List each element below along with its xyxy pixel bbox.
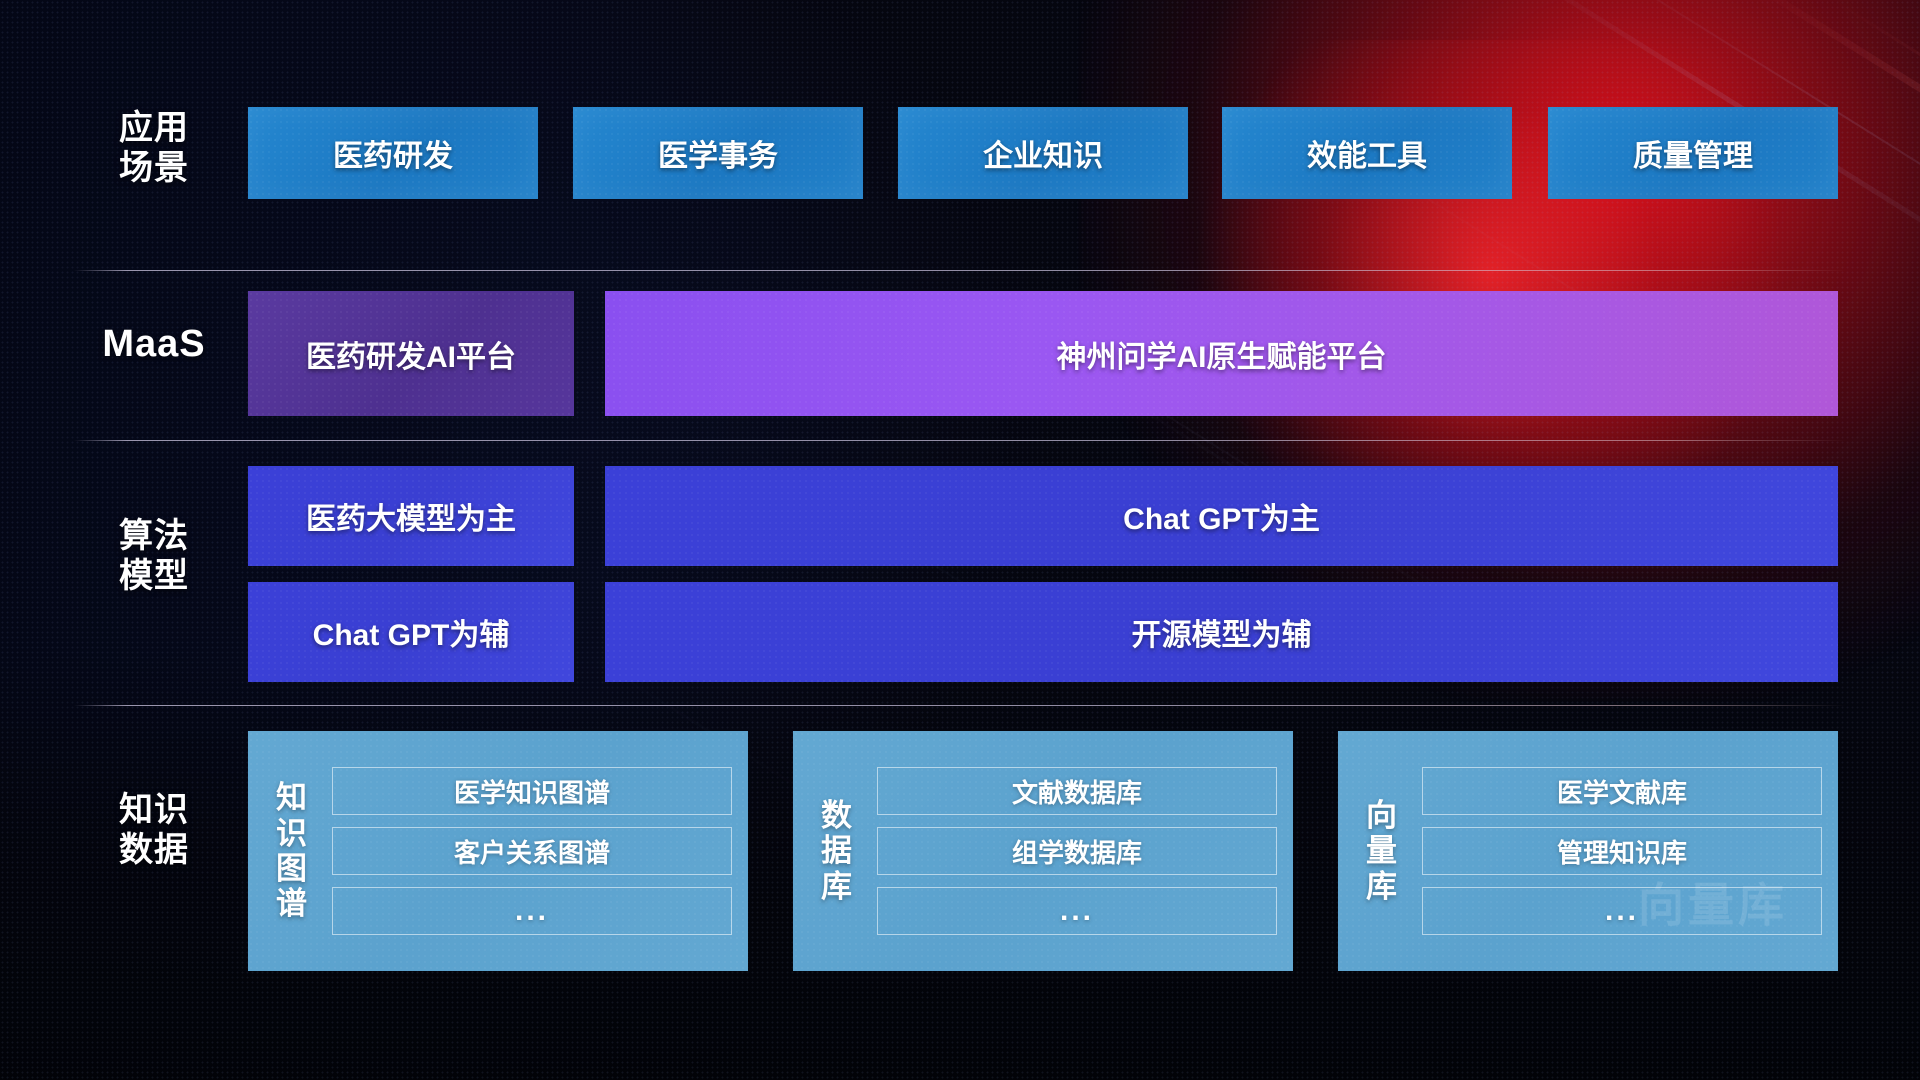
divider-after-algorithm-models xyxy=(74,705,1846,706)
slide-canvas: 应用 场景 医药研发 医学事务 企业知识 效能工具 质量管理 MaaS 医药研发… xyxy=(0,0,1920,1080)
algo-box-chatgpt-secondary[interactable]: Chat GPT为辅 xyxy=(248,582,574,682)
algo-box-chatgpt-primary[interactable]: Chat GPT为主 xyxy=(605,466,1838,566)
knowledge-group-title-knowledge-graph: 知 识 图 谱 xyxy=(262,780,322,921)
scenario-box-efficiency-tools[interactable]: 效能工具 xyxy=(1222,107,1512,199)
knowledge-group-title-char: 向 xyxy=(1352,798,1412,833)
scenario-box-label: 效能工具 xyxy=(1307,131,1427,175)
knowledge-group-knowledge-graph[interactable]: 知 识 图 谱 医学知识图谱 客户关系图谱 ... xyxy=(248,731,748,971)
row-label-application-scenarios: 应用 场景 xyxy=(74,108,234,188)
knowledge-item[interactable]: 客户关系图谱 xyxy=(332,827,732,875)
knowledge-group-title-char: 库 xyxy=(807,869,867,904)
knowledge-item-list: 医学知识图谱 客户关系图谱 ... xyxy=(332,767,732,935)
scenario-box-medical-affairs[interactable]: 医学事务 xyxy=(573,107,863,199)
scenario-box-label: 质量管理 xyxy=(1633,131,1753,175)
knowledge-item[interactable]: 文献数据库 xyxy=(877,767,1277,815)
algo-box-label: 医药大模型为主 xyxy=(306,494,516,538)
maas-box-shenzhou-wenxue-platform[interactable]: 神州问学AI原生赋能平台 xyxy=(605,291,1838,416)
scenario-box-medicine-rd[interactable]: 医药研发 xyxy=(248,107,538,199)
row-label-line: 数据 xyxy=(74,830,234,870)
knowledge-group-title-vector-store: 向 量 库 xyxy=(1352,798,1412,904)
scenario-box-label: 医药研发 xyxy=(333,131,453,175)
knowledge-item-more[interactable]: ... xyxy=(332,887,732,935)
scenario-box-label: 医学事务 xyxy=(658,131,778,175)
algo-box-label: Chat GPT为主 xyxy=(1123,494,1320,538)
scenario-box-enterprise-knowledge[interactable]: 企业知识 xyxy=(898,107,1188,199)
row-label-line: 模型 xyxy=(74,556,234,596)
row-label-line: 应用 xyxy=(74,108,234,148)
knowledge-group-title-char: 据 xyxy=(807,833,867,868)
knowledge-group-vector-store[interactable]: 向量库 向 量 库 医学文献库 管理知识库 ... xyxy=(1338,731,1838,971)
algo-box-opensource-secondary[interactable]: 开源模型为辅 xyxy=(605,582,1838,682)
knowledge-item-more[interactable]: ... xyxy=(877,887,1277,935)
row-label-line: 知识 xyxy=(74,790,234,830)
knowledge-group-title-char: 量 xyxy=(1352,833,1412,868)
row-label-algorithm-models: 算法 模型 xyxy=(74,516,234,596)
knowledge-item[interactable]: 医学文献库 xyxy=(1422,767,1822,815)
knowledge-item[interactable]: 管理知识库 xyxy=(1422,827,1822,875)
knowledge-group-database[interactable]: 数 据 库 文献数据库 组学数据库 ... xyxy=(793,731,1293,971)
maas-box-label: 医药研发AI平台 xyxy=(306,332,516,376)
row-label-line: MaaS xyxy=(74,322,234,367)
knowledge-group-title-char: 知 xyxy=(262,780,322,815)
knowledge-item-more[interactable]: ... xyxy=(1422,887,1822,935)
maas-box-label: 神州问学AI原生赋能平台 xyxy=(1057,332,1387,376)
scenario-box-quality-management[interactable]: 质量管理 xyxy=(1548,107,1838,199)
divider-after-maas xyxy=(74,440,1846,441)
knowledge-item-list: 文献数据库 组学数据库 ... xyxy=(877,767,1277,935)
knowledge-group-title-char: 图 xyxy=(262,851,322,886)
row-label-line: 算法 xyxy=(74,516,234,556)
row-label-line: 场景 xyxy=(74,148,234,188)
knowledge-item[interactable]: 组学数据库 xyxy=(877,827,1277,875)
maas-box-medicine-ai-platform[interactable]: 医药研发AI平台 xyxy=(248,291,574,416)
knowledge-group-title-char: 识 xyxy=(262,816,322,851)
knowledge-group-title-char: 库 xyxy=(1352,869,1412,904)
divider-after-scenarios xyxy=(74,270,1846,271)
algo-box-label: Chat GPT为辅 xyxy=(313,610,510,654)
knowledge-group-title-char: 数 xyxy=(807,798,867,833)
algo-box-medicine-large-model-primary[interactable]: 医药大模型为主 xyxy=(248,466,574,566)
row-label-maas: MaaS xyxy=(74,322,234,367)
knowledge-item-list: 医学文献库 管理知识库 ... xyxy=(1422,767,1822,935)
scenario-box-label: 企业知识 xyxy=(983,131,1103,175)
knowledge-group-title-char: 谱 xyxy=(262,886,322,921)
knowledge-item[interactable]: 医学知识图谱 xyxy=(332,767,732,815)
algo-box-label: 开源模型为辅 xyxy=(1132,610,1312,654)
knowledge-group-title-database: 数 据 库 xyxy=(807,798,867,904)
row-label-knowledge-data: 知识 数据 xyxy=(74,790,234,870)
